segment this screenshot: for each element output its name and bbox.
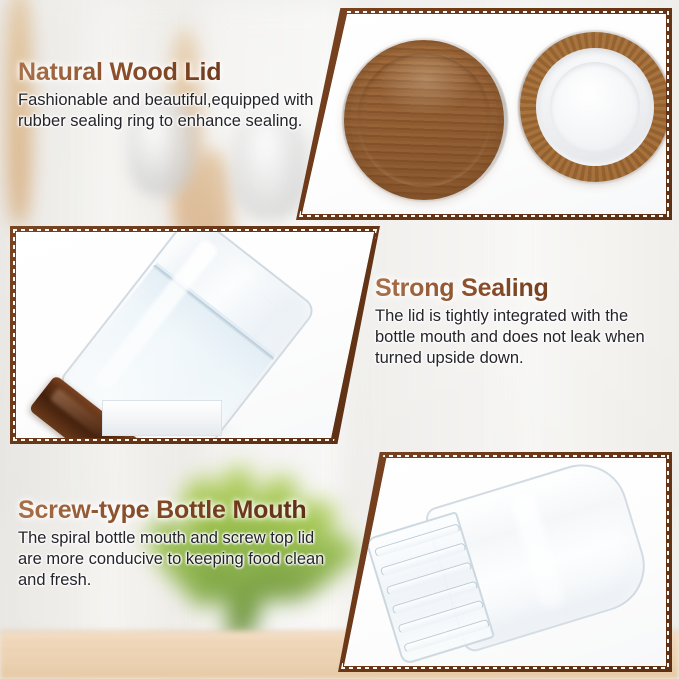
wood-lid-top-view bbox=[344, 40, 504, 200]
feature-title: Strong Sealing bbox=[375, 274, 669, 302]
panel-photo-wood-lid bbox=[302, 14, 666, 214]
panel-photo-strong-sealing bbox=[16, 232, 374, 438]
feature-description: Fashionable and beautiful,equipped with … bbox=[18, 90, 322, 132]
feature-photo-panel-strong-sealing bbox=[10, 226, 380, 444]
feature-text-natural-wood-lid: Natural Wood Lid Fashionable and beautif… bbox=[18, 58, 322, 132]
acrylic-stand bbox=[102, 400, 222, 436]
feature-title: Natural Wood Lid bbox=[18, 58, 322, 86]
wood-lid-underside-with-sealing-ring bbox=[520, 32, 666, 182]
feature-text-screw-type-bottle-mouth: Screw-type Bottle Mouth The spiral bottl… bbox=[18, 496, 330, 590]
feature-photo-panel-wood-lid bbox=[296, 8, 672, 220]
feature-title: Screw-type Bottle Mouth bbox=[18, 496, 330, 524]
panel-photo-bottle-mouth bbox=[344, 458, 666, 666]
feature-text-strong-sealing: Strong Sealing The lid is tightly integr… bbox=[375, 274, 669, 368]
product-feature-infographic: Natural Wood Lid Fashionable and beautif… bbox=[0, 0, 679, 679]
feature-photo-panel-bottle-mouth bbox=[338, 452, 672, 672]
feature-description: The lid is tightly integrated with the b… bbox=[375, 306, 669, 368]
feature-description: The spiral bottle mouth and screw top li… bbox=[18, 528, 330, 590]
